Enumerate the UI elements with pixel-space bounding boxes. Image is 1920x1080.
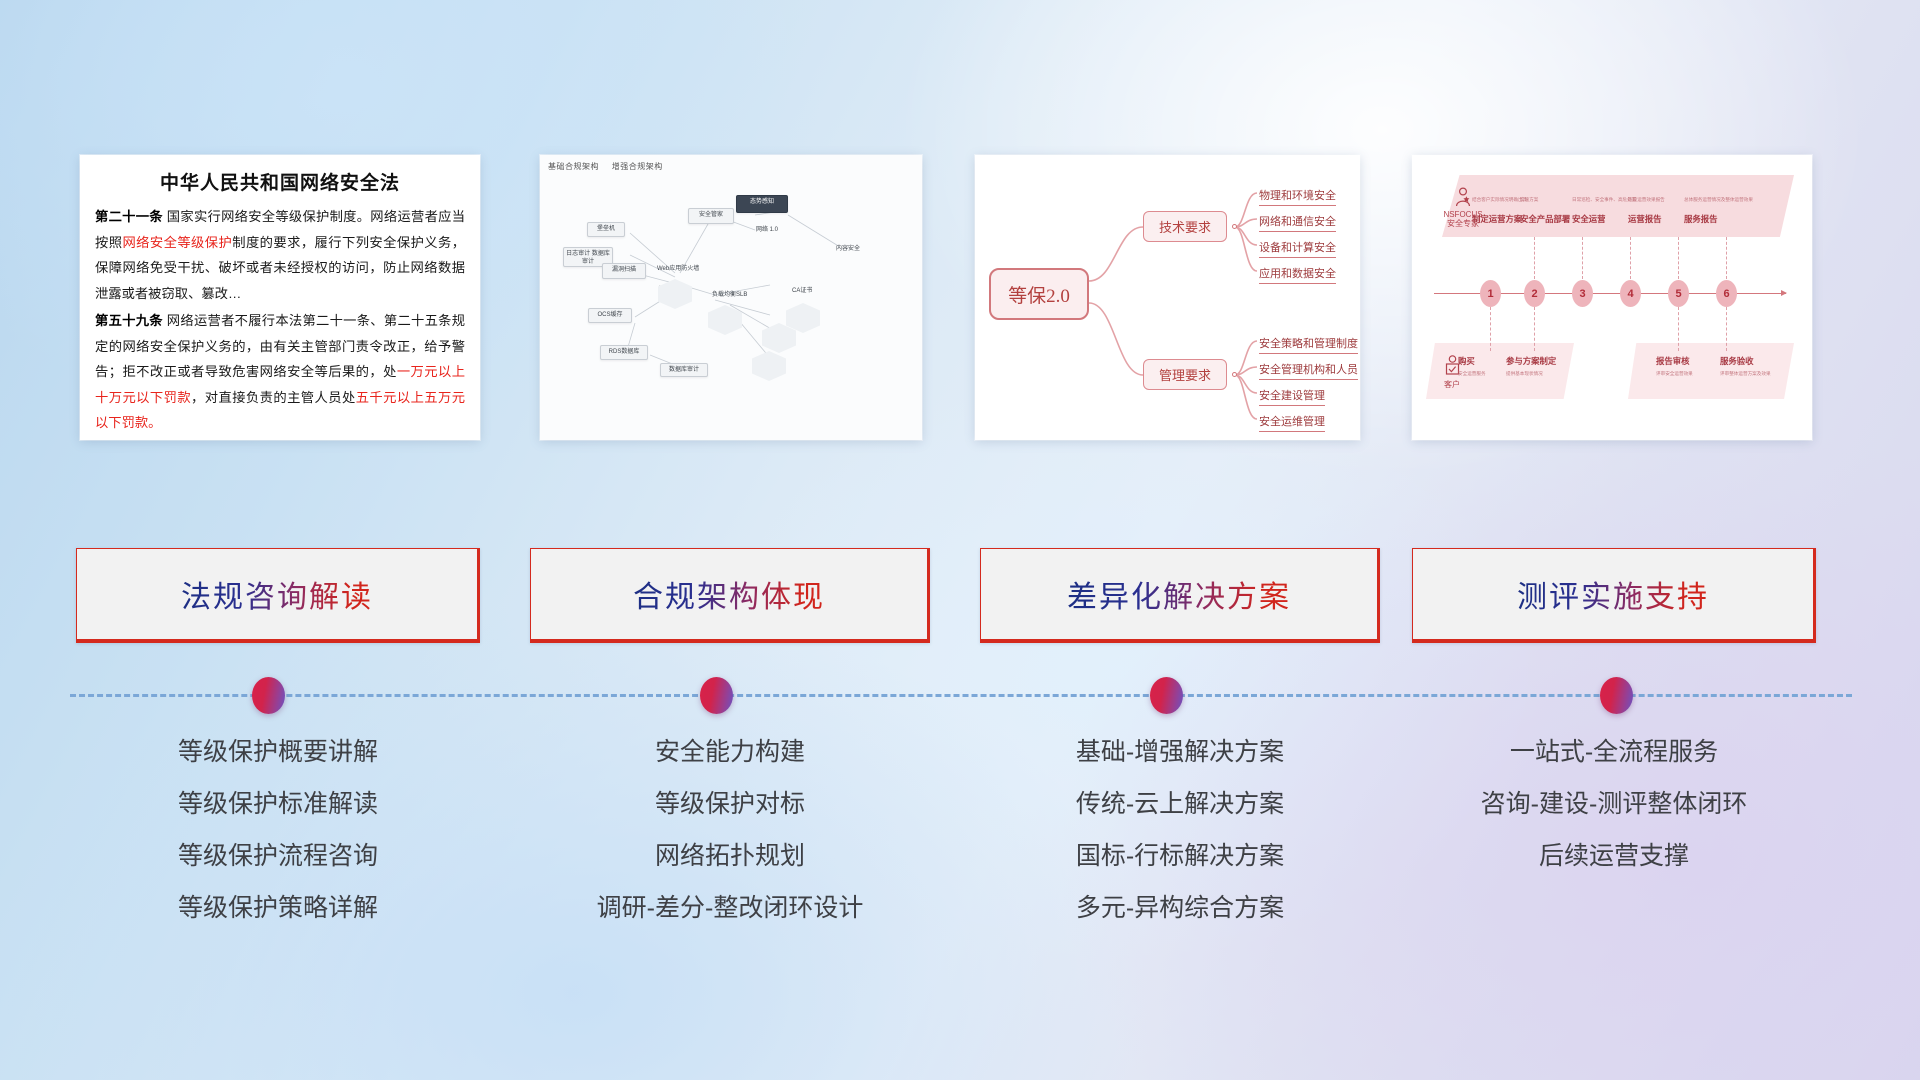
column-2: 安全能力构建等级保护对标网络拓扑规划调研-差分-整改闭环设计 — [530, 740, 930, 948]
mindmap-collapse-dot-icon — [1232, 224, 1237, 229]
roadmap-bottom-title: 报告审核 — [1656, 355, 1690, 367]
list-item: 安全能力构建 — [530, 740, 930, 765]
mindmap-collapse-dot-icon — [1232, 372, 1237, 377]
mindmap-leaf-node: 安全策略和管理制度 — [1259, 335, 1358, 354]
mindmap-leaf-node: 安全建设管理 — [1259, 387, 1325, 406]
card-cybersecurity-law: 中华人民共和国网络安全法 第二十一条 国家实行网络安全等级保护制度。网络运营者应… — [80, 155, 480, 440]
roadmap-step-subtitle: 结合客户实际情况明确出具 — [1472, 197, 1527, 203]
law-article-number: 第五十九条 — [95, 313, 163, 328]
roadmap-step-subtitle: 实施方案 — [1520, 197, 1538, 203]
list-item: 等级保护流程咨询 — [76, 844, 480, 869]
list-item: 等级保护标准解读 — [76, 792, 480, 817]
mindmap-leaf-node: 安全运维管理 — [1259, 413, 1325, 432]
list-item: 调研-差分-整改闭环设计 — [530, 896, 930, 921]
roadmap-connector-dashed — [1726, 237, 1727, 279]
roadmap-connector-dashed — [1630, 237, 1631, 279]
roadmap-connector-dashed — [1678, 237, 1679, 279]
banner-label: 合规架构体现 — [633, 572, 825, 616]
column-4: 一站式-全流程服务咨询-建设-测评整体闭环后续运营支撑 — [1412, 740, 1816, 896]
architecture-node: 网络 1.0 — [756, 224, 778, 233]
roadmap-step-title: 安全产品部署 — [1520, 213, 1570, 225]
banner-3[interactable]: 差异化解决方案 — [980, 548, 1380, 643]
law-article-number: 第二十一条 — [95, 209, 163, 224]
roadmap-connector-dashed — [1534, 237, 1535, 279]
roadmap-bottom-subtitle: 评审安全运营效果 — [1656, 371, 1693, 377]
mindmap-leaf-node: 安全管理机构和人员 — [1259, 361, 1358, 380]
roadmap-canvas: NSFOCUS 安全专家 客户 12制定运营方案结合客户实际情况明确出具3安全产… — [1420, 165, 1804, 430]
architecture-node: 数据库审计 — [660, 363, 708, 377]
mindmap-branch-management: 管理要求 — [1143, 359, 1227, 390]
roadmap-connector-dashed — [1490, 307, 1491, 351]
roadmap-connector-dashed — [1678, 307, 1679, 351]
architecture-canvas: 安全管家态势感知堡垒机日志审计 数据库审计漏洞扫描Web应用防火墙负载均衡SLB… — [540, 155, 922, 440]
reference-image-cards: 中华人民共和国网络安全法 第二十一条 国家实行网络安全等级保护制度。网络运营者应… — [0, 0, 1920, 460]
roadmap-step-subtitle: 阶段运营效果报告 — [1628, 197, 1665, 203]
architecture-node: 安全管家 — [688, 208, 734, 224]
list-item: 咨询-建设-测评整体闭环 — [1412, 792, 1816, 817]
banner-label: 法规咨询解读 — [181, 572, 373, 616]
architecture-node: Web应用防火墙 — [657, 263, 699, 272]
law-paragraph: 第五十九条 网络运营者不履行本法第二十一条、第二十五条规定的网络安全保护义务的，… — [95, 308, 465, 436]
roadmap-bottom-subtitle: 提供基本现状情况 — [1506, 371, 1543, 377]
roadmap-step-dot: 5 — [1668, 280, 1689, 307]
architecture-node: 漏洞扫描 — [602, 263, 646, 279]
mindmap-leaf-node: 网络和通信安全 — [1259, 213, 1336, 232]
roadmap-step-subtitle: 日常巡检、安全事件、高危处置 — [1572, 197, 1636, 203]
list-item: 国标-行标解决方案 — [980, 844, 1380, 869]
list-item: 后续运营支撑 — [1412, 844, 1816, 869]
roadmap-step-title: 安全运营 — [1572, 213, 1606, 225]
roadmap-step-dot: 3 — [1572, 280, 1593, 307]
roadmap-step-title: 制定运营方案 — [1472, 213, 1522, 225]
roadmap-step-subtitle: 总体服务运营情况及整体运营效果 — [1684, 197, 1753, 203]
architecture-node: CA证书 — [792, 285, 812, 294]
banner-4[interactable]: 测评实施支持 — [1412, 548, 1816, 643]
roadmap-connector-dashed — [1582, 237, 1583, 279]
list-item: 多元-异构综合方案 — [980, 896, 1380, 921]
card-mindmap-dengbao: 等保2.0 技术要求 管理要求 物理和环境安全网络和通信安全设备和计算安全应用和… — [975, 155, 1360, 440]
roadmap-step-dot: 1 — [1480, 280, 1501, 307]
list-item: 一站式-全流程服务 — [1412, 740, 1816, 765]
list-item: 基础-增强解决方案 — [980, 740, 1380, 765]
list-item: 等级保护概要讲解 — [76, 740, 480, 765]
law-paragraph: 第二十一条 国家实行网络安全等级保护制度。网络运营者应当按照网络安全等级保护制度… — [95, 204, 465, 306]
law-title: 中华人民共和国网络安全法 — [95, 168, 465, 195]
architecture-node: RDS数据库 — [600, 345, 648, 360]
architecture-node: 态势感知 — [736, 195, 788, 213]
banner-2[interactable]: 合规架构体现 — [530, 548, 930, 643]
card-compliance-architecture: 基础合规架构 增强合规架构 安全管家态势感知堡垒机日志审计 数据库审计漏洞扫描W… — [540, 155, 922, 440]
mindmap-root-node: 等保2.0 — [989, 268, 1089, 320]
timeline-dot-2[interactable] — [700, 677, 733, 714]
list-item: 等级保护对标 — [530, 792, 930, 817]
mindmap-leaf-node: 物理和环境安全 — [1259, 187, 1336, 206]
mindmap-leaf-node: 应用和数据安全 — [1259, 265, 1336, 284]
roadmap-bottom-title: 购买 — [1458, 355, 1475, 367]
list-item: 等级保护策略详解 — [76, 896, 480, 921]
architecture-node: 内容安全 — [836, 243, 860, 252]
column-3: 基础-增强解决方案传统-云上解决方案国标-行标解决方案多元-异构综合方案 — [980, 740, 1380, 948]
column-1: 等级保护概要讲解等级保护标准解读等级保护流程咨询等级保护策略详解 — [76, 740, 480, 948]
list-item: 传统-云上解决方案 — [980, 792, 1380, 817]
roadmap-step-dot: 6 — [1716, 280, 1737, 307]
roadmap-actor-customer-label: 客户 — [1428, 380, 1476, 390]
timeline-dot-1[interactable] — [252, 677, 285, 714]
roadmap-connector-dashed — [1534, 307, 1535, 351]
law-body: 第二十一条 国家实行网络安全等级保护制度。网络运营者应当按照网络安全等级保护制度… — [95, 204, 465, 436]
roadmap-bottom-title: 服务验收 — [1720, 355, 1754, 367]
mindmap-leaf-node: 设备和计算安全 — [1259, 239, 1336, 258]
banner-1[interactable]: 法规咨询解读 — [76, 548, 480, 643]
banner-label: 测评实施支持 — [1517, 572, 1709, 616]
banner-label: 差异化解决方案 — [1067, 572, 1291, 616]
timeline — [70, 694, 1852, 697]
roadmap-step-dot: 4 — [1620, 280, 1641, 307]
architecture-node: 负载均衡SLB — [712, 289, 747, 298]
roadmap-bottom-title: 参与方案制定 — [1506, 355, 1556, 367]
roadmap-band-provider — [1442, 175, 1794, 237]
card-service-roadmap: NSFOCUS 安全专家 客户 12制定运营方案结合客户实际情况明确出具3安全产… — [1412, 155, 1812, 440]
roadmap-bottom-subtitle: 评审整体运营方案及效果 — [1720, 371, 1771, 377]
law-highlight-text: 网络安全等级保护 — [122, 235, 232, 250]
roadmap-connector-dashed — [1726, 307, 1727, 351]
roadmap-step-dot: 2 — [1524, 280, 1545, 307]
roadmap-step-title: 运营报告 — [1628, 213, 1662, 225]
security-expert-icon — [1454, 187, 1472, 207]
architecture-node: 堡垒机 — [587, 222, 625, 237]
law-text: ，对直接负责的主管人员处 — [191, 390, 356, 405]
timeline-dot-3[interactable] — [1150, 677, 1183, 714]
roadmap-step-title: 服务报告 — [1684, 213, 1718, 225]
architecture-node: OCS缓存 — [588, 308, 632, 323]
timeline-dashed-line — [70, 694, 1852, 697]
roadmap-bottom-subtitle: 安全运营服务 — [1458, 371, 1486, 377]
mindmap-canvas: 等保2.0 技术要求 管理要求 物理和环境安全网络和通信安全设备和计算安全应用和… — [983, 163, 1352, 432]
mindmap-branch-technical: 技术要求 — [1143, 211, 1227, 242]
list-item: 网络拓扑规划 — [530, 844, 930, 869]
timeline-dot-4[interactable] — [1600, 677, 1633, 714]
